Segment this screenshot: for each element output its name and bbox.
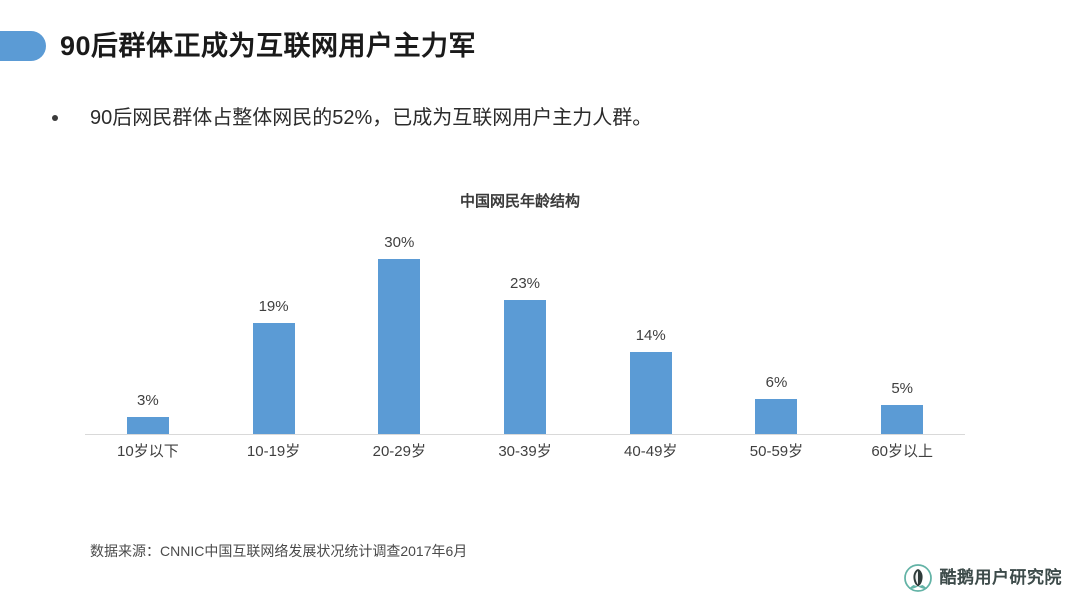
bar-rect: [881, 405, 923, 434]
bar-value-label: 30%: [384, 235, 414, 250]
bar-rect: [630, 352, 672, 434]
bar-group: 14%: [588, 230, 714, 434]
chart-plot-area: 3% 19% 30% 23% 14% 6%: [85, 230, 965, 435]
bar-group: 23%: [462, 230, 588, 434]
bar-group: 6%: [714, 230, 840, 434]
brand-logo: 酷鹅用户研究院: [903, 563, 1063, 593]
x-axis-tick-labels: 10岁以下 10-19岁 20-29岁 30-39岁 40-49岁 50-59岁…: [85, 440, 965, 461]
bar-value-label: 3%: [137, 393, 159, 408]
slide-header: 90后群体正成为互联网用户主力军: [0, 24, 1080, 70]
bar-group: 5%: [839, 230, 965, 434]
bar-rect: [755, 399, 797, 434]
bullet-text: 90后网民群体占整体网民的52%，已成为互联网用户主力人群。: [90, 104, 652, 132]
bar-value-label: 19%: [259, 299, 289, 314]
bar-rect: [127, 417, 169, 435]
bar-group: 3%: [85, 230, 211, 434]
x-axis-tick-label: 60岁以上: [839, 440, 965, 461]
bar-group: 30%: [336, 230, 462, 434]
bar-rect: [378, 259, 420, 434]
bar-chart: 中国网民年龄结构 3% 19% 30% 23% 14%: [0, 190, 1080, 490]
bar-value-label: 6%: [766, 375, 788, 390]
x-axis-tick-label: 20-29岁: [336, 440, 462, 461]
bullet-dot-icon: [52, 115, 58, 121]
data-source-note: 数据来源：CNNIC中国互联网络发展状况统计调查2017年6月: [90, 541, 467, 561]
bar-value-label: 14%: [636, 328, 666, 343]
x-axis-tick-label: 10-19岁: [211, 440, 337, 461]
bar-group: 19%: [211, 230, 337, 434]
bar-rect: [253, 323, 295, 434]
x-axis-tick-label: 50-59岁: [714, 440, 840, 461]
chart-title: 中国网民年龄结构: [0, 190, 1040, 211]
x-axis-tick-label: 10岁以下: [85, 440, 211, 461]
page-title: 90后群体正成为互联网用户主力军: [60, 24, 476, 68]
bullet-list-item: 90后网民群体占整体网民的52%，已成为互联网用户主力人群。: [52, 104, 1032, 132]
bar-value-label: 5%: [891, 381, 913, 396]
chart-bars: 3% 19% 30% 23% 14% 6%: [85, 230, 965, 434]
x-axis-line: [85, 434, 965, 435]
title-accent-pill: [0, 31, 46, 61]
bar-rect: [504, 300, 546, 434]
penguin-emblem-icon: [903, 563, 933, 593]
x-axis-tick-label: 40-49岁: [588, 440, 714, 461]
x-axis-tick-label: 30-39岁: [462, 440, 588, 461]
brand-logo-text: 酷鹅用户研究院: [940, 563, 1063, 593]
bar-value-label: 23%: [510, 276, 540, 291]
